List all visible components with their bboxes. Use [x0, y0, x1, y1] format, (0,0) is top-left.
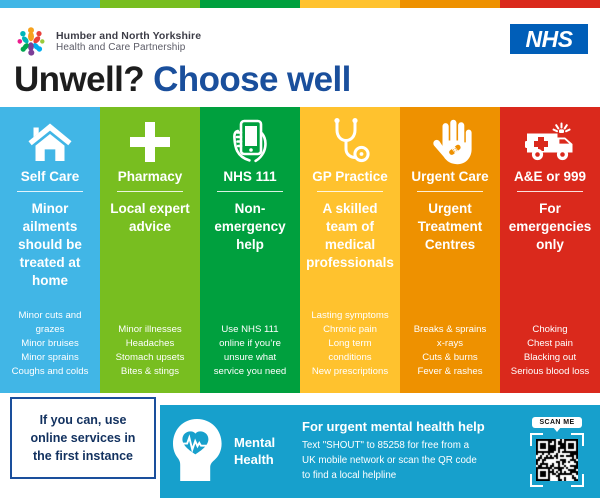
list-item: Coughs and colds [12, 365, 89, 379]
list-item: Stomach upsets [116, 351, 185, 365]
mental-health-body-line2: UK mobile network or scan the QR code [302, 454, 520, 469]
service-divider-nhs-111 [217, 191, 283, 193]
brand-name-line1: Humber and North Yorkshire [56, 30, 201, 42]
service-conditions-list-aande-999: ChokingChest painBlacking outSerious blo… [511, 323, 589, 393]
nhs-logo: NHS [510, 24, 588, 54]
list-item: Blacking out [511, 351, 589, 365]
list-item: Use NHS 111 [214, 323, 287, 337]
service-conditions-list-urgent-care: Breaks & sprainsx-raysCuts & burnsFever … [414, 323, 487, 393]
mental-health-body-line1: Text "SHOUT" to 85258 for free from a [302, 439, 520, 454]
list-item: Bites & stings [116, 365, 185, 379]
list-item: service you need [214, 365, 287, 379]
service-column-nhs-111[interactable]: NHS 111Non-emergency helpUse NHS 111onli… [200, 107, 300, 393]
list-item: Minor cuts and [12, 309, 89, 323]
brand-text: Humber and North Yorkshire Health and Ca… [56, 30, 201, 54]
headline-part-unwell: Unwell? [14, 60, 144, 99]
qr-code-image [536, 439, 578, 481]
list-item: unsure what [214, 351, 287, 365]
service-divider-gp-practice [317, 191, 383, 193]
service-subtitle-urgent-care: Urgent Treatment Centres [404, 200, 496, 253]
list-item: Chest pain [511, 337, 589, 351]
mental-health-heading: For urgent mental health help [302, 419, 520, 434]
poster-footer: If you can, use online services in the f… [0, 393, 600, 498]
list-item: Minor illnesses [116, 323, 185, 337]
service-title-self-care: Self Care [21, 170, 80, 185]
list-item: Cuts & burns [414, 351, 487, 365]
partnership-brand: Humber and North Yorkshire Health and Ca… [14, 25, 201, 59]
mental-health-copy: For urgent mental health help Text "SHOU… [298, 419, 520, 484]
top-strip-segment-gp-practice [300, 0, 400, 8]
list-item: Chronic pain [311, 323, 388, 337]
nhs-logo-text: NHS [525, 26, 572, 53]
service-column-pharmacy[interactable]: PharmacyLocal expert adviceMinor illness… [100, 107, 200, 393]
head-heart-ecg-icon [166, 415, 228, 488]
service-title-nhs-111: NHS 111 [223, 170, 276, 185]
service-conditions-list-gp-practice: Lasting symptomsChronic painLong termcon… [311, 309, 388, 393]
list-item: Fever & rashes [414, 365, 487, 379]
service-divider-urgent-care [417, 191, 483, 193]
poster-header: Humber and North Yorkshire Health and Ca… [0, 8, 600, 107]
list-item: New prescriptions [311, 365, 388, 379]
qr-code-block[interactable]: SCAN ME [520, 417, 600, 487]
service-subtitle-nhs-111: Non-emergency help [204, 200, 296, 253]
mental-health-label: Mental Health [234, 435, 275, 468]
service-divider-pharmacy [117, 191, 183, 193]
people-circle-logo-icon [14, 25, 48, 59]
ambulance-icon [524, 117, 576, 167]
headline-part-choose-well: Choose well [153, 60, 351, 99]
mental-health-label-line1: Mental [234, 435, 275, 450]
service-subtitle-aande-999: For emergencies only [504, 200, 596, 253]
hand-phone-icon [229, 117, 271, 167]
top-strip-segment-urgent-care [400, 0, 500, 8]
service-column-gp-practice[interactable]: GP PracticeA skilled team of medical pro… [300, 107, 400, 393]
service-conditions-list-pharmacy: Minor illnessesHeadachesStomach upsetsBi… [116, 323, 185, 393]
brand-name-line2: Health and Care Partnership [56, 42, 201, 54]
online-services-callout: If you can, use online services in the f… [10, 397, 156, 479]
list-item: Lasting symptoms [311, 309, 388, 323]
service-column-urgent-care[interactable]: Urgent CareUrgent Treatment CentresBreak… [400, 107, 500, 393]
hand-plaster-icon [428, 117, 472, 167]
mental-health-label-line2: Health [234, 452, 274, 467]
service-divider-aande-999 [517, 191, 583, 193]
service-divider-self-care [17, 191, 83, 193]
cross-icon [128, 117, 172, 167]
list-item: Choking [511, 323, 589, 337]
mental-health-panel: Mental Health For urgent mental health h… [160, 405, 600, 498]
service-title-gp-practice: GP Practice [312, 170, 388, 185]
top-strip-segment-nhs-111 [200, 0, 300, 8]
service-column-self-care[interactable]: Self CareMinor ailments should be treate… [0, 107, 100, 393]
service-subtitle-self-care: Minor ailments should be treated at home [4, 200, 96, 289]
scan-me-badge: SCAN ME [532, 417, 581, 428]
service-conditions-list-self-care: Minor cuts andgrazesMinor bruisesMinor s… [12, 309, 89, 393]
list-item: Long term [311, 337, 388, 351]
mental-health-body: Text "SHOUT" to 85258 for free from a UK… [302, 439, 520, 484]
list-item: Serious blood loss [511, 365, 589, 379]
service-subtitle-pharmacy: Local expert advice [104, 200, 196, 236]
service-title-pharmacy: Pharmacy [118, 170, 183, 185]
poster-root: Humber and North Yorkshire Health and Ca… [0, 0, 600, 498]
mental-health-content: For urgent mental health help Text "SHOU… [298, 417, 600, 487]
top-colour-strip [0, 0, 600, 8]
service-subtitle-gp-practice: A skilled team of medical professionals [302, 200, 398, 271]
list-item: Minor sprains [12, 351, 89, 365]
house-icon [27, 117, 73, 167]
list-item: online if you’re [214, 337, 287, 351]
service-title-urgent-care: Urgent Care [411, 170, 488, 185]
top-strip-segment-pharmacy [100, 0, 200, 8]
page-title: Unwell? Choose well [14, 60, 351, 100]
online-services-text: If you can, use online services in the f… [20, 411, 146, 465]
mental-health-brand: Mental Health [160, 415, 298, 488]
list-item: Minor bruises [12, 337, 89, 351]
stethoscope-icon [328, 117, 372, 167]
list-item: grazes [12, 323, 89, 337]
list-item: Headaches [116, 337, 185, 351]
service-column-aande-999[interactable]: A&E or 999For emergencies onlyChokingChe… [500, 107, 600, 393]
mental-health-body-line3: to find a local helpline [302, 469, 520, 484]
service-columns: Self CareMinor ailments should be treate… [0, 107, 600, 393]
list-item: conditions [311, 351, 388, 365]
list-item: x-rays [414, 337, 487, 351]
list-item: Breaks & sprains [414, 323, 487, 337]
service-title-aande-999: A&E or 999 [514, 170, 586, 185]
qr-code-icon[interactable] [530, 433, 584, 487]
service-conditions-list-nhs-111: Use NHS 111online if you’reunsure whatse… [214, 323, 287, 393]
top-strip-segment-self-care [0, 0, 100, 8]
top-strip-segment-aande-999 [500, 0, 600, 8]
